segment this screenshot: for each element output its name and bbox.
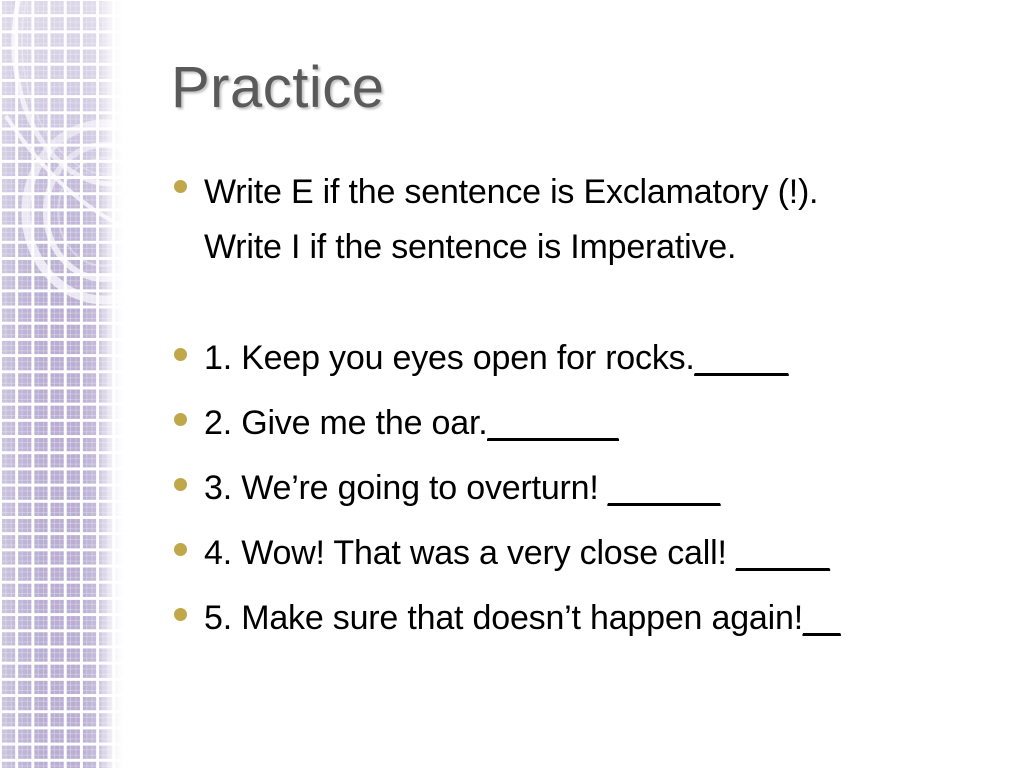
list-item: 1. Keep you eyes open for rocks._____ [174,327,1024,390]
presentation-slide: Practice Write E if the sentence is Excl… [0,0,1024,768]
bullet-dot-icon [174,478,187,491]
slide-decorative-sidebar [0,0,126,768]
question-sentence: 3. We’re going to overturn! [204,469,608,507]
page-title: Practice [171,58,385,119]
bullet-dot-icon [174,543,187,556]
list-item: 4. Wow! That was a very close call! ____… [174,522,1024,585]
instruction-line-1: Write E if the sentence is Exclamatory (… [204,173,818,211]
question-text: 4. Wow! That was a very close call! ____… [204,522,1024,585]
list-item: 2. Give me the oar._______ [174,392,1024,455]
answer-blank[interactable]: __ [803,599,840,637]
question-text: 3. We’re going to overturn! ______ [204,457,1024,520]
answer-blank[interactable]: _____ [695,339,789,377]
slide-body-list: Write E if the sentence is Exclamatory (… [174,165,1024,652]
question-text: 1. Keep you eyes open for rocks._____ [204,327,1024,390]
bullet-dot-icon [174,608,187,621]
question-text: 2. Give me the oar._______ [204,392,1024,455]
question-sentence: 1. Keep you eyes open for rocks. [204,339,695,377]
list-spacer [174,275,1024,327]
bullet-dot-icon [174,180,187,193]
list-item: 3. We’re going to overturn! ______ [174,457,1024,520]
answer-blank[interactable]: ______ [608,469,720,507]
sidebar-edge-fade [96,0,126,768]
question-sentence: 5. Make sure that doesn’t happen again! [204,599,803,637]
list-item: Write E if the sentence is Exclamatory (… [174,165,1024,275]
bullet-dot-icon [174,413,187,426]
list-item: 5. Make sure that doesn’t happen again!_… [174,587,1024,650]
question-text: 5. Make sure that doesn’t happen again!_… [204,587,1024,650]
question-sentence: 2. Give me the oar. [204,404,487,442]
instruction-line-2: Write I if the sentence is Imperative. [204,228,736,266]
slide-content-area: Practice Write E if the sentence is Excl… [126,0,1024,768]
bullet-dot-icon [174,348,187,361]
answer-blank[interactable]: _______ [487,404,618,442]
question-sentence: 4. Wow! That was a very close call! [204,534,736,572]
instruction-text: Write E if the sentence is Exclamatory (… [204,165,1024,275]
answer-blank[interactable]: _____ [736,534,830,572]
